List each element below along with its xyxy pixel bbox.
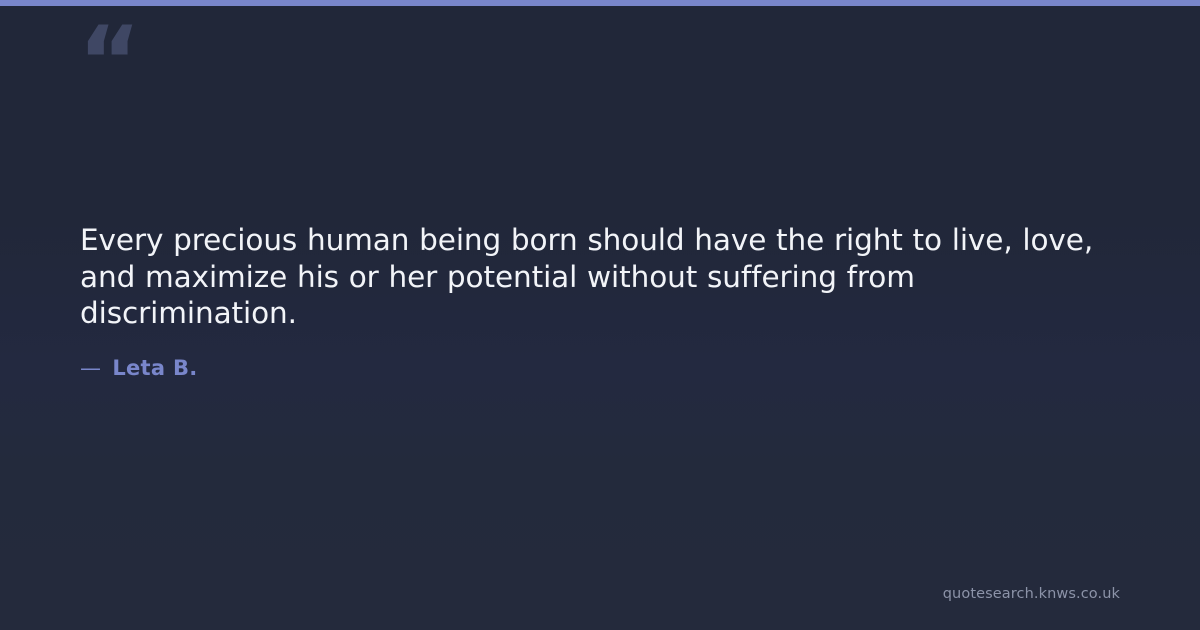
opening-quotation-mark-icon: “: [78, 14, 139, 110]
quote-attribution: — Leta B.: [80, 356, 1110, 380]
top-accent-bar: [0, 0, 1200, 6]
em-dash: —: [80, 356, 101, 380]
quote-card: “ Every precious human being born should…: [0, 0, 1200, 630]
author-name: Leta B.: [112, 356, 197, 380]
quote-content: Every precious human being born should h…: [80, 222, 1110, 380]
quote-text: Every precious human being born should h…: [80, 222, 1110, 332]
source-url: quotesearch.knws.co.uk: [943, 586, 1120, 602]
